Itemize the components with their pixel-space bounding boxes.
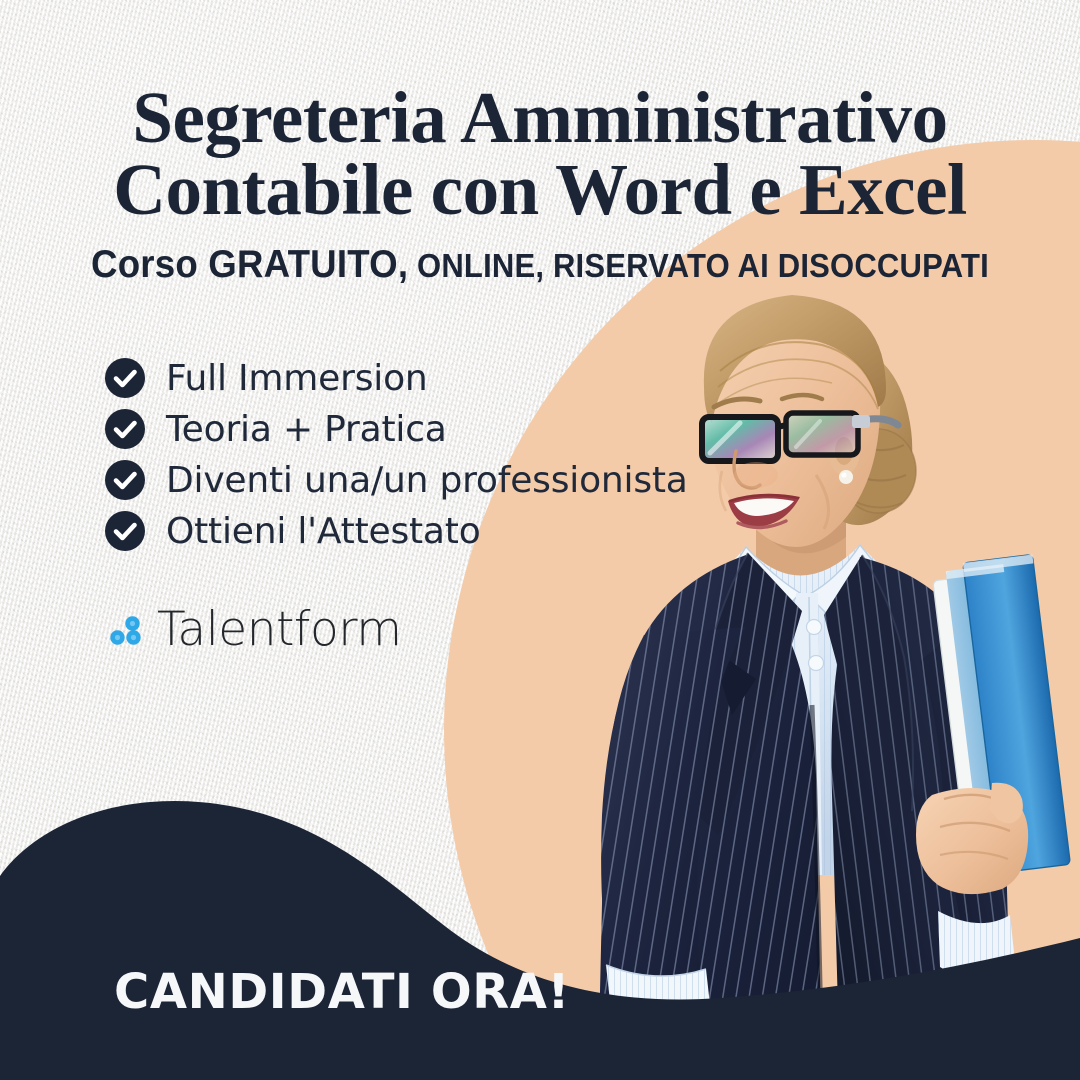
benefit-label: Teoria + Pratica [166,409,447,450]
check-circle-icon [104,459,146,501]
check-circle-icon [104,510,146,552]
subtitle-rest: ONLINE, RISERVATO AI DISOCCUPATI [408,247,989,284]
list-item: Ottieni l'Attestato [104,510,688,552]
page-subtitle: Corso GRATUITO, ONLINE, RISERVATO AI DIS… [32,243,1047,287]
benefit-label: Diventi una/un professionista [166,460,688,501]
benefit-label: Full Immersion [166,358,428,399]
cta-label[interactable]: CANDIDATI ORA! [114,964,570,1020]
subtitle-lead: Corso GRATUITO, [91,243,408,286]
three-dots-logo-mark-icon [108,610,148,650]
navy-bottom-wave [0,780,1080,1080]
poster-canvas: Segreteria Amministrativo Contabile con … [0,0,1080,1080]
benefit-label: Ottieni l'Attestato [166,511,481,552]
headline-line-1: Segreteria Amministrativo [132,77,947,158]
brand-logo[interactable]: Talentform [108,606,402,653]
check-circle-icon [104,357,146,399]
page-title: Segreteria Amministrativo Contabile con … [0,82,1080,225]
benefits-list: Full Immersion Teoria + Pratica Diventi … [104,357,688,552]
list-item: Full Immersion [104,357,688,399]
headline-line-2: Contabile con Word e Excel [26,154,1054,226]
logo-wordmark: Talentform [157,606,402,653]
list-item: Diventi una/un professionista [104,459,688,501]
check-circle-icon [104,408,146,450]
list-item: Teoria + Pratica [104,408,688,450]
